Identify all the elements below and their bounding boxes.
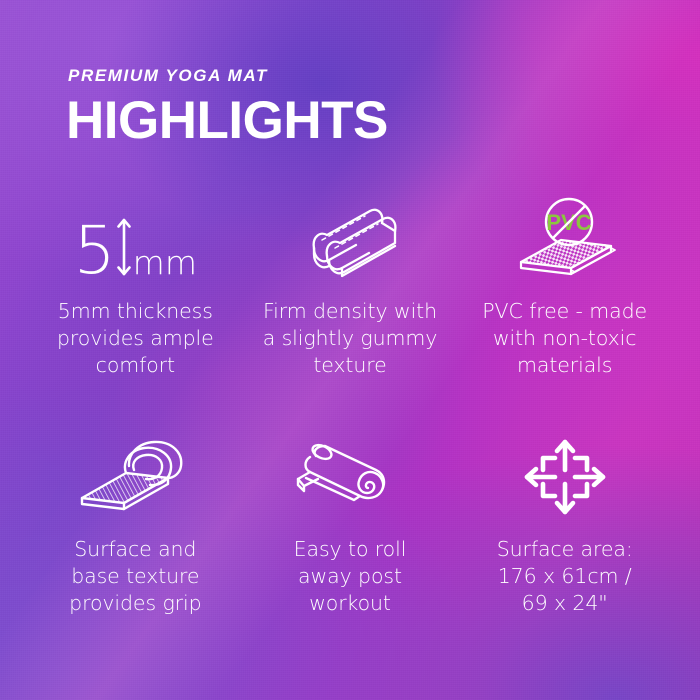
feature-item-roll: Easy to roll away post workout <box>243 430 458 650</box>
page-title: HIGHLIGHTS <box>66 93 388 149</box>
expand-arrows-icon <box>457 430 672 522</box>
corrugated-mat-icon <box>243 192 458 284</box>
rolled-mat-icon <box>243 430 458 522</box>
double-arrow-vertical-icon <box>114 216 134 278</box>
feature-item-thickness: 5 mm 5mm thickness provides ample comfo <box>28 192 243 412</box>
feature-caption: Surface and base texture provides grip <box>69 536 201 617</box>
pvc-free-icon: PVC <box>457 192 672 284</box>
feature-caption: 5mm thickness provides ample comfort <box>57 298 214 379</box>
thickness-number: 5 <box>74 221 116 282</box>
feature-item-pvc-free: PVC PVC free - made with non-toxic mater… <box>457 192 672 412</box>
feature-item-density: Firm density with a slightly gummy textu… <box>243 192 458 412</box>
feature-item-surface-area: Surface area: 176 x 61cm / 69 x 24" <box>457 430 672 650</box>
thickness-unit: mm <box>133 246 197 279</box>
feature-caption: PVC free - made with non-toxic materials <box>482 298 647 379</box>
feature-caption: Firm density with a slightly gummy textu… <box>263 298 438 379</box>
feature-caption: Surface area: 176 x 61cm / 69 x 24" <box>497 536 633 617</box>
feature-grid: 5 mm 5mm thickness provides ample comfo <box>28 192 672 650</box>
thickness-5mm-icon: 5 mm <box>28 192 243 284</box>
textured-mat-curl-icon <box>28 430 243 522</box>
eyebrow-label: PREMIUM YOGA MAT <box>68 66 268 86</box>
feature-item-grip: Surface and base texture provides grip <box>28 430 243 650</box>
feature-caption: Easy to roll away post workout <box>294 536 407 617</box>
